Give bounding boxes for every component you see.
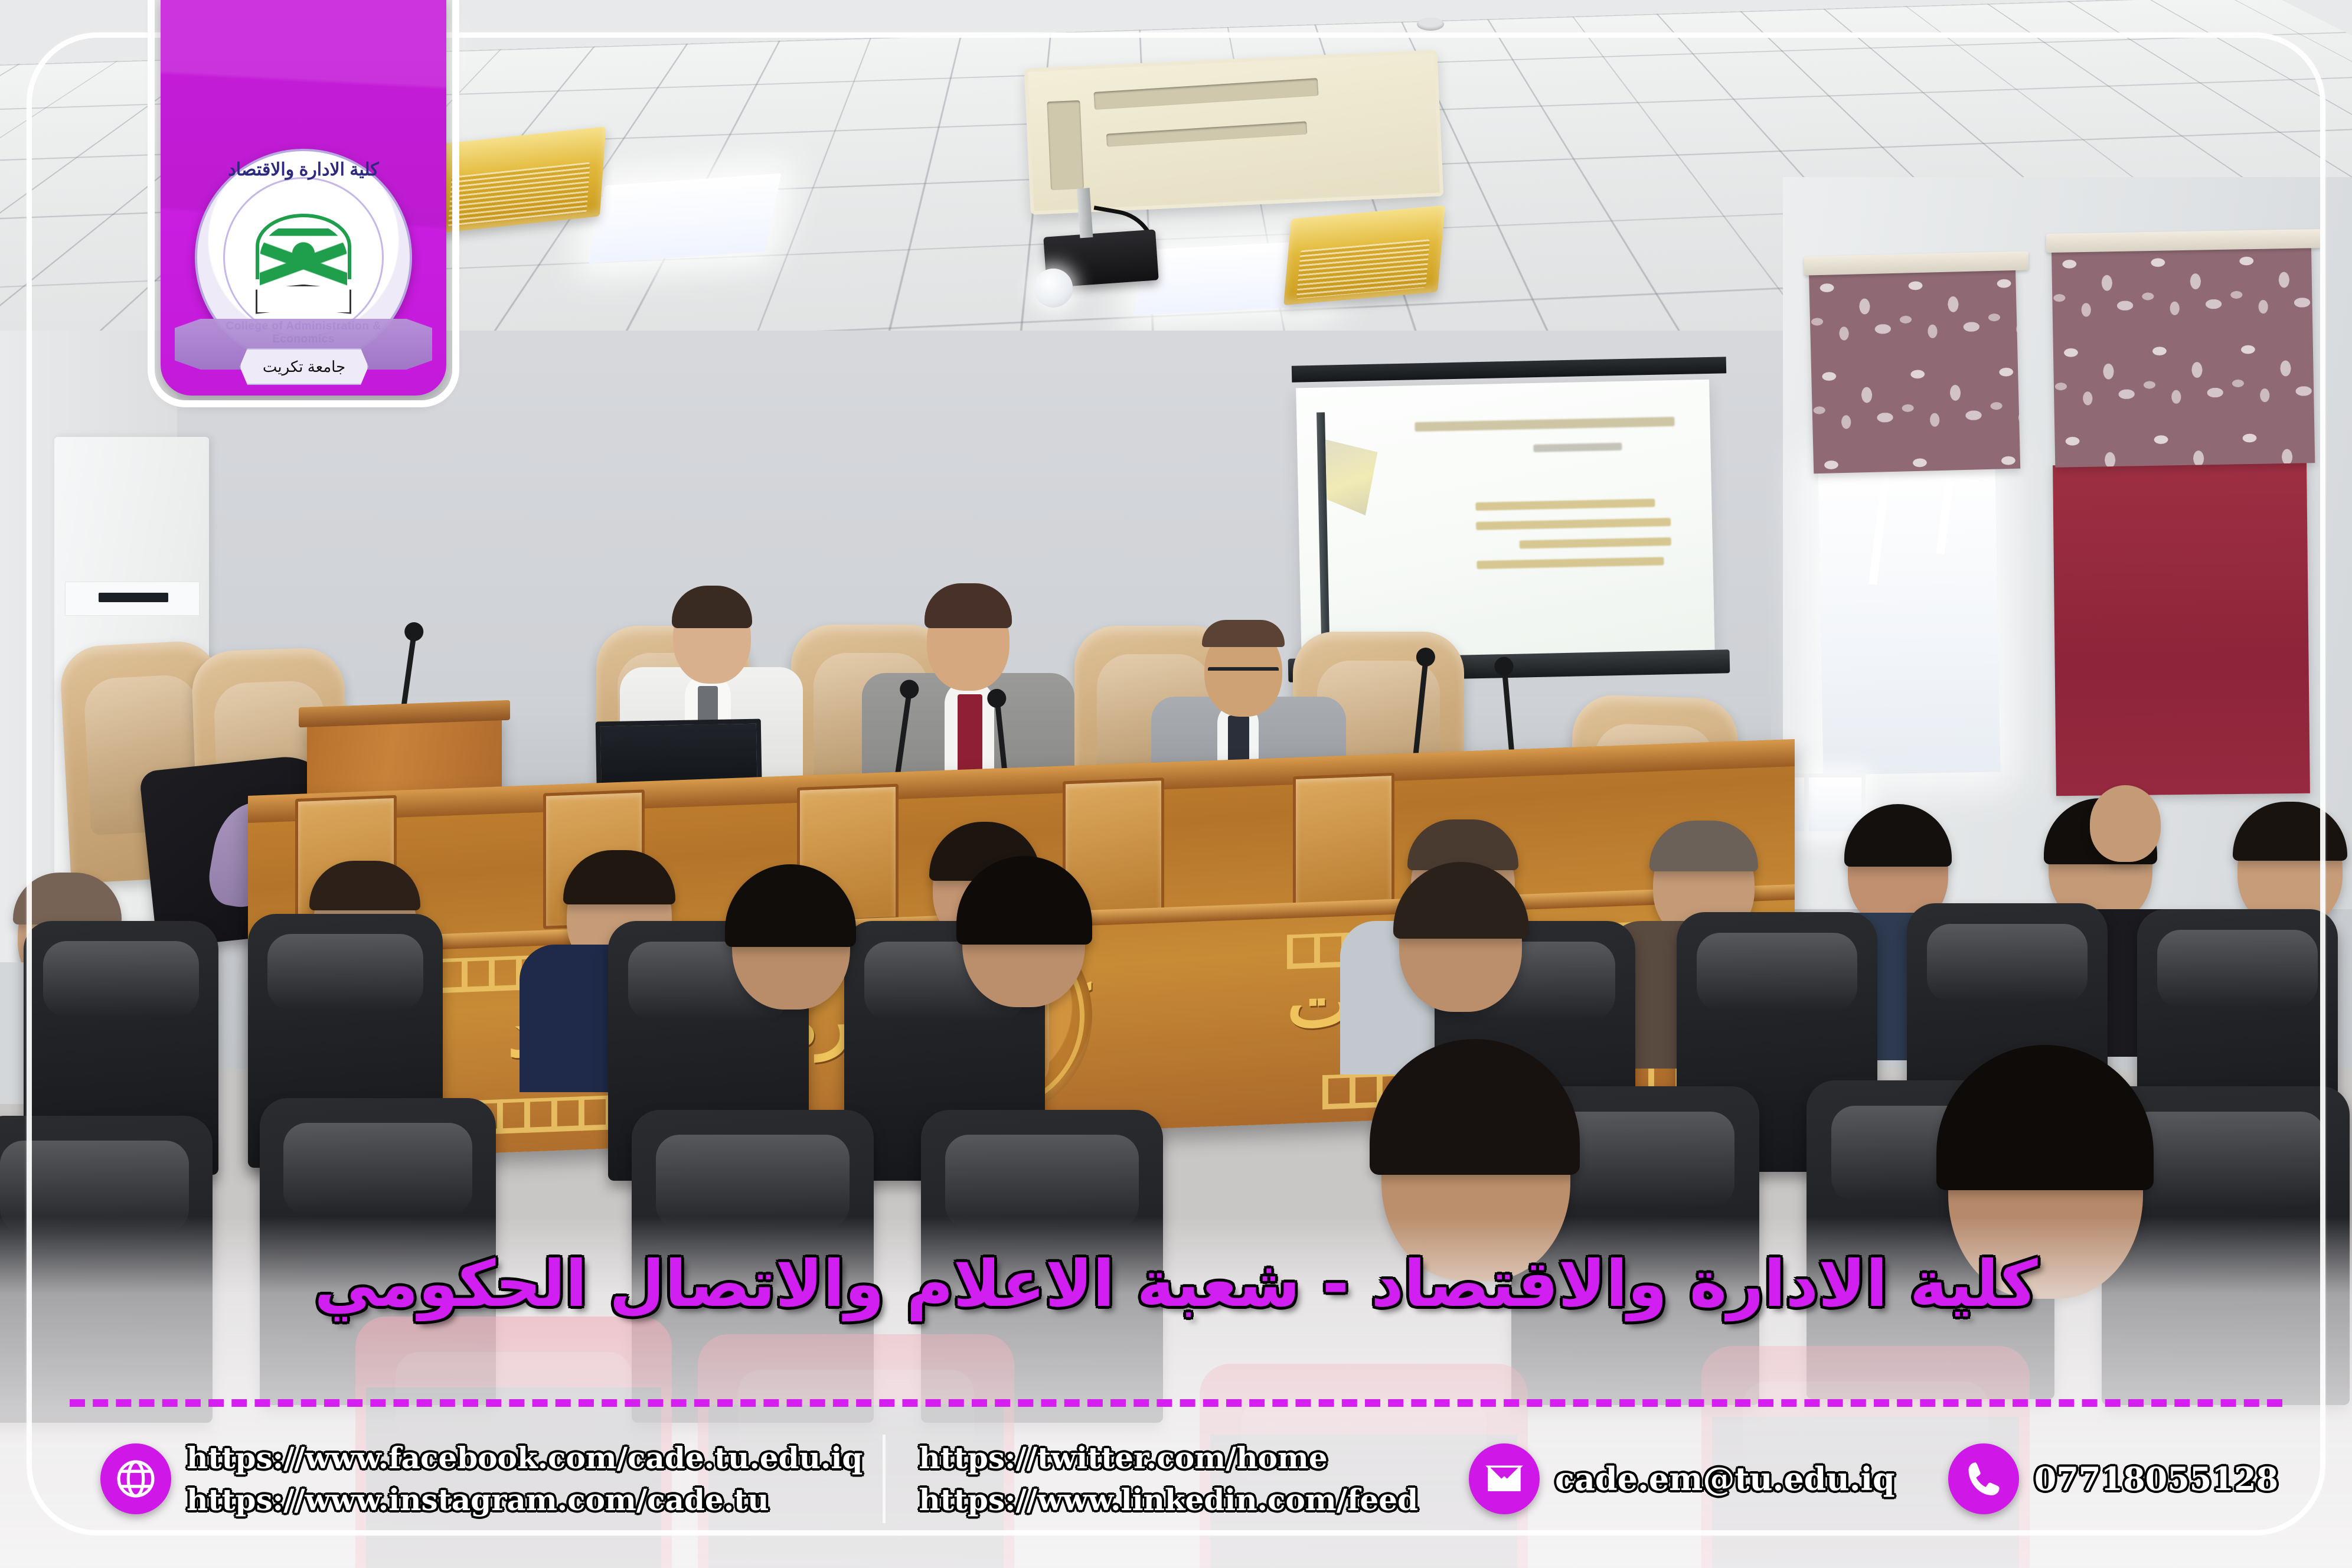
eyeglasses-icon	[1208, 667, 1279, 679]
facebook-url[interactable]: https://www.facebook.com/cade.tu.edu.iq	[187, 1440, 863, 1475]
audience-head	[2090, 785, 2161, 862]
linkedin-url[interactable]: https://www.linkedin.com/feed	[919, 1482, 1418, 1517]
ac-vent	[65, 582, 200, 616]
poster-caption: كلية الادارة والاقتصاد - شعبة الاعلام وا…	[0, 1250, 2352, 1319]
email-address[interactable]: cade.em@tu.edu.iq	[1555, 1460, 1895, 1498]
fluorescent-light	[588, 173, 781, 263]
red-roller-blind	[2053, 463, 2310, 796]
dashed-separator	[70, 1399, 2282, 1407]
contact-group-phone: 07718055128	[1948, 1443, 2278, 1514]
panelist-hair	[1202, 620, 1285, 647]
ceiling-projector	[1043, 229, 1159, 288]
globe-icon[interactable]	[100, 1443, 171, 1514]
contact-bar: https://www.facebook.com/cade.tu.edu.iq …	[77, 1420, 2281, 1538]
twitter-url[interactable]: https://twitter.com/home	[919, 1440, 1418, 1475]
gold-ceiling-lamp	[1283, 205, 1445, 306]
college-logo: كلية الادارة والاقتصاد College of Admini…	[195, 149, 412, 366]
logo-arabic-title: كلية الادارة والاقتصاد	[195, 159, 412, 180]
projection-screen	[1296, 380, 1715, 666]
window	[1818, 465, 2000, 775]
phone-icon[interactable]	[1948, 1443, 2019, 1514]
contact-divider	[883, 1435, 886, 1523]
smoke-detector-icon	[1417, 18, 1444, 31]
contact-group-social: https://twitter.com/home https://www.lin…	[919, 1440, 1418, 1517]
gold-ceiling-lamp	[434, 126, 606, 233]
logo-banner: كلية الادارة والاقتصاد College of Admini…	[161, 0, 446, 396]
instagram-url[interactable]: https://www.instagram.com/cade.tu	[187, 1482, 863, 1517]
patterned-roller-blind	[1809, 262, 2020, 473]
logo-university-name: جامعة تكريت	[240, 348, 368, 385]
poster-root: كلية الادارة والاقتصاد جامعة تكريت	[0, 0, 2352, 1568]
phone-number[interactable]: 07718055128	[2034, 1460, 2278, 1498]
patterned-roller-blind	[2052, 239, 2315, 468]
envelope-icon[interactable]	[1469, 1443, 1540, 1514]
contact-group-web: https://www.facebook.com/cade.tu.edu.iq …	[100, 1440, 863, 1517]
contact-group-email: cade.em@tu.edu.iq	[1469, 1443, 1895, 1514]
